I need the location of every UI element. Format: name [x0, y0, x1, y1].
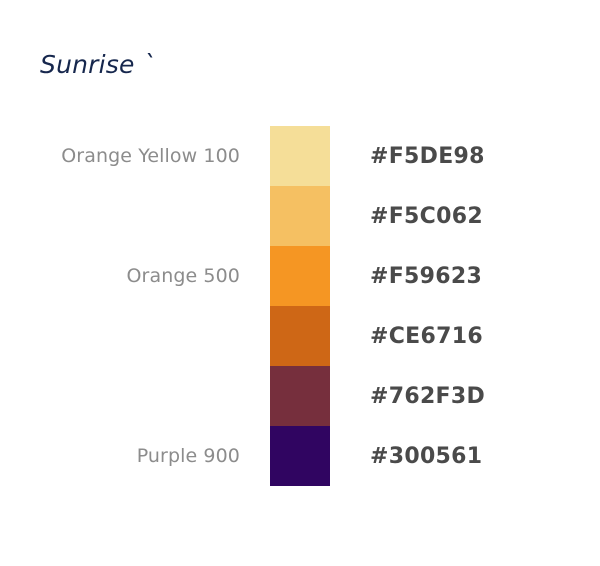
swatch-name-label: Orange Yellow 100 [0, 126, 240, 186]
swatch-hex-value[interactable]: #300561 [330, 426, 600, 486]
swatch-name-label [0, 306, 240, 366]
swatch-name-label [0, 366, 240, 426]
swatch-chip-wrapper [240, 426, 330, 486]
swatch-chip-wrapper [240, 186, 330, 246]
swatch-chip-wrapper [240, 126, 330, 186]
color-swatch[interactable] [270, 246, 330, 306]
swatch-hex-value[interactable]: #F59623 [330, 246, 600, 306]
swatch-chip-wrapper [240, 366, 330, 426]
swatch-name-label [0, 186, 240, 246]
swatch-chip-wrapper [240, 246, 330, 306]
swatch-row[interactable]: #762F3D [0, 366, 600, 426]
swatch-hex-value[interactable]: #CE6716 [330, 306, 600, 366]
swatch-row[interactable]: Orange 500 #F59623 [0, 246, 600, 306]
palette-card: Sunrise ` Orange Yellow 100 #F5DE98 #F5C… [0, 0, 600, 566]
swatch-hex-value[interactable]: #762F3D [330, 366, 600, 426]
swatch-row[interactable]: #F5C062 [0, 186, 600, 246]
color-swatch[interactable] [270, 426, 330, 486]
color-swatch[interactable] [270, 126, 330, 186]
page-title: Sunrise ` [40, 50, 155, 79]
color-swatch[interactable] [270, 366, 330, 426]
swatch-row[interactable]: Orange Yellow 100 #F5DE98 [0, 126, 600, 186]
color-swatch[interactable] [270, 186, 330, 246]
swatch-name-label: Orange 500 [0, 246, 240, 306]
swatch-hex-value[interactable]: #F5C062 [330, 186, 600, 246]
color-swatch[interactable] [270, 306, 330, 366]
swatch-chip-wrapper [240, 306, 330, 366]
swatch-list: Orange Yellow 100 #F5DE98 #F5C062 Orange… [0, 126, 600, 486]
swatch-name-label: Purple 900 [0, 426, 240, 486]
swatch-row[interactable]: #CE6716 [0, 306, 600, 366]
swatch-row[interactable]: Purple 900 #300561 [0, 426, 600, 486]
swatch-hex-value[interactable]: #F5DE98 [330, 126, 600, 186]
